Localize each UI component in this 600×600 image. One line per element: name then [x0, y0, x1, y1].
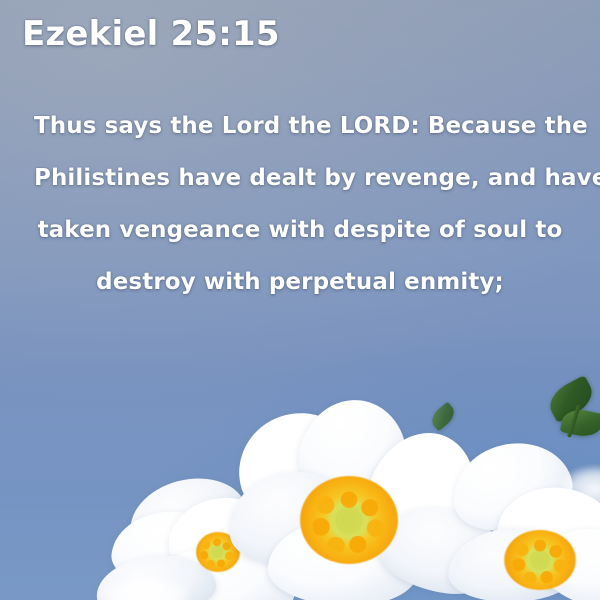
verse-reference-title: Ezekiel 25:15: [22, 14, 280, 54]
verse-image-card: Ezekiel 25:15 Thus says the Lord the LOR…: [0, 0, 600, 600]
verse-line: taken vengeance with despite of soul to: [34, 204, 566, 256]
verse-line: Philistines have dealt by revenge, and h…: [34, 152, 566, 204]
verse-line: Thus says the Lord the LORD: Because the: [34, 100, 566, 152]
verse-line: destroy with perpetual enmity;: [34, 256, 566, 308]
verse-text-block: Thus says the Lord the LORD: Because the…: [34, 100, 566, 308]
sky-haze-overlay: [0, 370, 600, 600]
